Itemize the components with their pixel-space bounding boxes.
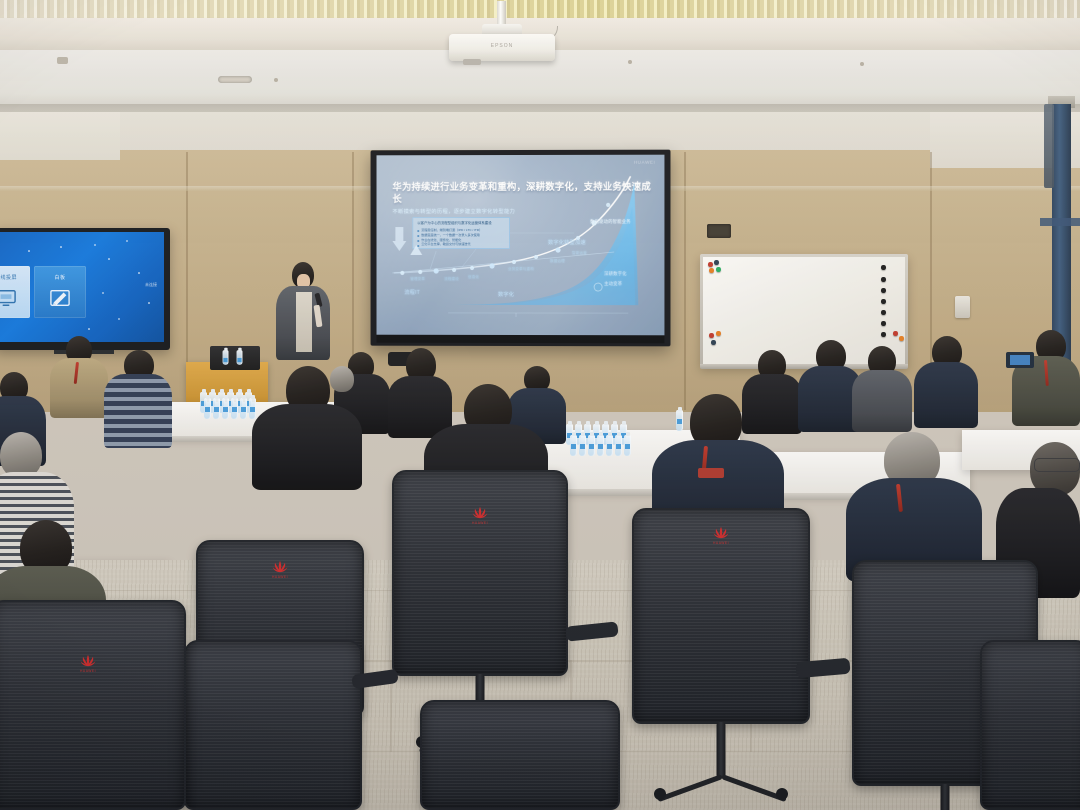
slide-annotation: 数字化 (498, 291, 514, 298)
slide-annotation: 管理变革 (410, 277, 425, 282)
slide-annotation: 数据驱动的智能业务 (590, 219, 631, 225)
chair-backrest[interactable]: HUAWEI (392, 470, 568, 676)
chair-backrest[interactable]: HUAWEI (632, 508, 810, 724)
screen-bottom-bezel (377, 335, 665, 344)
side-touch-display[interactable]: 无线投屏 白板 未连接 (0, 228, 170, 350)
wall-left-white (0, 112, 120, 160)
badge (698, 468, 724, 478)
slide-annotation: 流程IT (404, 289, 420, 296)
slide-annotation: 深耕数字化 (604, 271, 627, 277)
slide-growth-chart (377, 155, 665, 336)
office-chair[interactable] (420, 700, 620, 810)
display-tile-whiteboard[interactable]: 白板 (34, 266, 86, 318)
chair-backrest[interactable] (420, 700, 620, 810)
projector-lens (463, 59, 481, 65)
attendee-body (104, 374, 172, 448)
office-chair[interactable]: HUAWEI (392, 470, 568, 676)
water-bottle[interactable] (223, 350, 229, 364)
chair-caster (654, 788, 666, 800)
huawei-logo-icon (471, 506, 489, 520)
conference-room-photo: EPSON 无线投屏 (0, 0, 1080, 810)
av-wall-plate[interactable] (707, 224, 731, 238)
attendee-body (50, 358, 108, 418)
slide-annotation: 信息化 (468, 275, 479, 280)
attendee-body (742, 374, 802, 434)
attendee-body (914, 362, 978, 428)
ceiling-sensor (274, 78, 278, 82)
ceiling-vent (218, 76, 252, 83)
phone-screen (1010, 355, 1030, 365)
front-monitor (210, 346, 260, 370)
ceiling-sensor (628, 60, 632, 64)
slide-annotation: 主动变革 (604, 281, 622, 287)
tile-label-cast: 无线投屏 (0, 274, 30, 281)
eyeglasses (1034, 458, 1080, 472)
chair-backrest[interactable] (980, 640, 1080, 810)
tile-label-whiteboard: 白板 (34, 274, 86, 281)
chair-caster (776, 788, 788, 800)
huawei-logo-icon (79, 654, 97, 668)
cast-icon (0, 288, 17, 308)
chair-stem (941, 784, 950, 810)
display-screen[interactable]: 无线投屏 白板 未连接 (0, 232, 164, 342)
huawei-logo-icon (712, 526, 730, 540)
projector-brand-label: EPSON (449, 43, 555, 49)
chair-backrest[interactable]: HUAWEI (0, 600, 186, 810)
slide-annotation: 数字化转型加速 (548, 239, 586, 246)
column-band (1040, 218, 1080, 226)
presenter-shirt (296, 292, 312, 352)
ceiling-sensor (860, 62, 864, 66)
chair-brand-label: HUAWEI (472, 521, 488, 525)
display-status-text: 未连接 (145, 282, 157, 288)
ceiling-fixture (57, 57, 68, 64)
chair-stem (717, 722, 726, 778)
water-bottle[interactable] (237, 350, 243, 364)
office-chair[interactable] (184, 640, 362, 810)
wall-thermostat[interactable] (955, 296, 970, 318)
office-chair[interactable]: HUAWEI (0, 600, 186, 810)
ceiling-projector: EPSON (449, 34, 555, 61)
column-speaker (1044, 104, 1054, 188)
office-chair[interactable]: HUAWEI (632, 508, 810, 724)
display-tile-cast[interactable]: 无线投屏 (0, 266, 30, 318)
ceiling-slat-band (0, 0, 1080, 20)
slide-annotation: 数据治理 (550, 259, 565, 264)
chair-brand-label: HUAWEI (272, 575, 288, 579)
chair-backrest[interactable] (184, 640, 362, 810)
slide-annotation: 流程建设 (444, 277, 459, 282)
front-projection-screen[interactable]: HUAWEI 华为持续进行业务变革和重构，深耕数字化，支持业务快速成长 不断摸索… (371, 150, 671, 347)
office-chair[interactable] (980, 640, 1080, 810)
projected-slide: HUAWEI 华为持续进行业务变革和重构，深耕数字化，支持业务快速成长 不断摸索… (377, 155, 665, 336)
slide-annotation: 业务变革与重构 (508, 267, 534, 272)
pen-icon (49, 288, 71, 308)
attendee-body (252, 404, 362, 490)
attendee-body (852, 370, 912, 432)
attendee-head (330, 366, 354, 392)
slide-annotation: 智能运营 (572, 251, 587, 256)
chair-brand-label: HUAWEI (80, 669, 96, 673)
huawei-logo-icon (271, 560, 289, 574)
chair-brand-label: HUAWEI (713, 541, 729, 545)
